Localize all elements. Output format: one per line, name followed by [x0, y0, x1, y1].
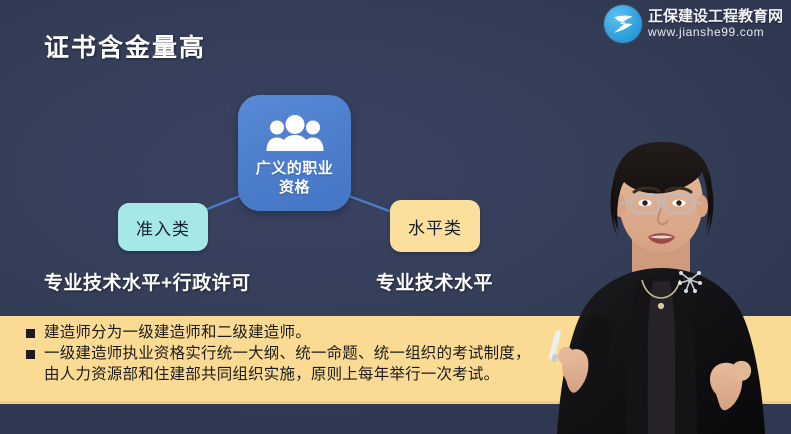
note-text: 一级建造师执业资格实行统一大纲、统一命题、统一组织的考试制度， 由人力资源部和住… [44, 344, 531, 386]
list-item: 建造师分为一级建造师和二级建造师。 [26, 323, 791, 343]
diagram-caption-right: 专业技术水平 [376, 268, 493, 295]
diagram-node-center[interactable]: 广义的职业 资格 [238, 95, 351, 211]
brand-logo[interactable]: 正保建设工程教育网 www.jianshe99.com [604, 5, 783, 43]
diagram-node-right-label: 水平类 [408, 214, 462, 239]
notes-panel: 建造师分为一级建造师和二级建造师。 一级建造师执业资格实行统一大纲、统一命题、统… [0, 316, 791, 404]
diagram-node-right[interactable]: 水平类 [390, 200, 480, 252]
bullet-square-icon [26, 329, 35, 338]
bullet-square-icon [26, 350, 35, 359]
notes-list: 建造师分为一级建造师和二级建造师。 一级建造师执业资格实行统一大纲、统一命题、统… [0, 316, 791, 386]
people-group-icon [264, 115, 326, 158]
note-text: 建造师分为一级建造师和二级建造师。 [44, 323, 311, 343]
brand-logo-text: 正保建设工程教育网 www.jianshe99.com [648, 9, 783, 38]
zhengbao-z-logo-icon [604, 5, 642, 43]
brand-url: www.jianshe99.com [648, 26, 783, 39]
brand-title: 正保建设工程教育网 [648, 9, 783, 25]
diagram-node-left-label: 准入类 [136, 215, 190, 240]
slide-title: 证书含金量高 [44, 28, 206, 64]
diagram-node-center-label: 广义的职业 资格 [256, 160, 334, 197]
diagram-node-left[interactable]: 准入类 [118, 203, 208, 251]
notes-panel-edge [0, 401, 791, 404]
diagram-caption-left: 专业技术水平+行政许可 [44, 268, 251, 295]
list-item: 一级建造师执业资格实行统一大纲、统一命题、统一组织的考试制度， 由人力资源部和住… [26, 344, 791, 386]
lecture-slide-screen: 正保建设工程教育网 www.jianshe99.com 证书含金量高 [0, 0, 791, 434]
